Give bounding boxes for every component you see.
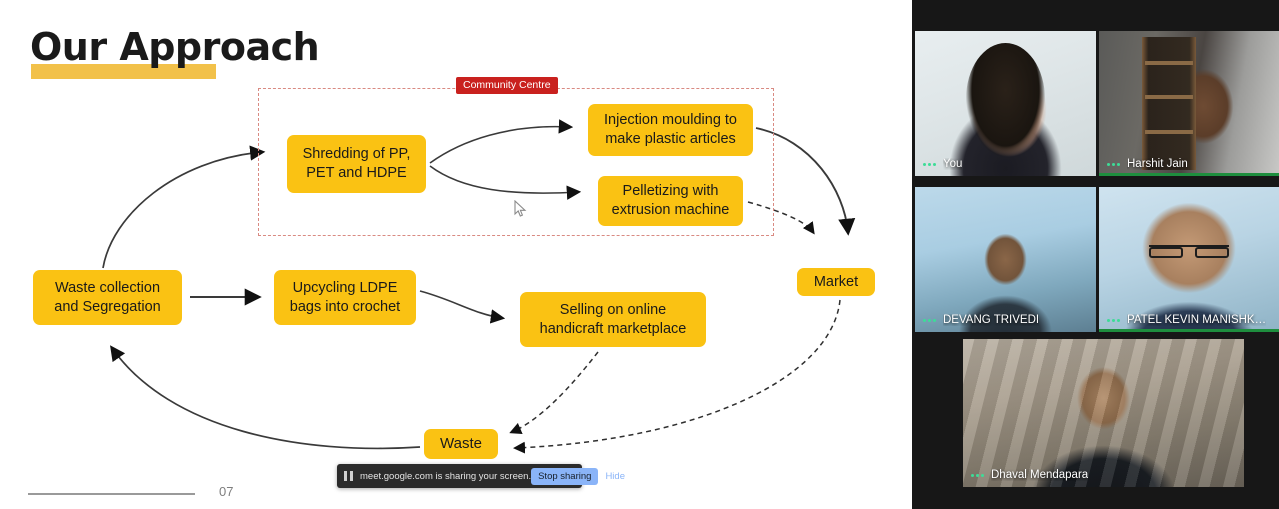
video-subject xyxy=(966,43,1046,156)
page-number: 07 xyxy=(219,484,233,499)
speaking-indicator xyxy=(1099,173,1279,176)
community-centre-label: Community Centre xyxy=(456,77,558,94)
video-background-curtain xyxy=(963,339,1244,487)
mic-activity-icon xyxy=(923,319,936,322)
presentation-slide: Our Approach Community Centre xyxy=(0,0,912,509)
video-background-shelf xyxy=(1142,37,1196,170)
mouse-cursor-icon xyxy=(514,200,527,218)
mic-activity-icon xyxy=(1107,319,1120,322)
participant-name-badge: You xyxy=(923,158,962,170)
participants-panel: You Harshit Jain DEVANG TRIVEDI xyxy=(912,0,1279,509)
node-selling-line1: Selling on online xyxy=(540,301,687,320)
node-shredding-line2: PET and HDPE xyxy=(303,164,411,183)
video-tile-harshit-jain[interactable]: Harshit Jain xyxy=(1099,31,1279,176)
node-pelletizing-line2: extrusion machine xyxy=(612,201,730,220)
node-shredding-line1: Shredding of PP, xyxy=(303,145,411,164)
video-feed xyxy=(1099,187,1279,332)
node-shredding: Shredding of PP, PET and HDPE xyxy=(287,135,426,193)
page-title: Our Approach xyxy=(30,28,319,68)
node-upcycling-line1: Upcycling LDPE xyxy=(290,279,400,298)
video-feed xyxy=(915,187,1096,332)
hide-bar-button[interactable]: Hide xyxy=(605,471,625,482)
slide-title-text: Our Approach xyxy=(30,28,319,68)
video-tile-you[interactable]: You xyxy=(915,31,1096,176)
video-tile-patel-kevin[interactable]: PATEL KEVIN MANISHK… xyxy=(1099,187,1279,332)
video-feed xyxy=(915,31,1096,176)
node-upcycling-ldpe: Upcycling LDPE bags into crochet xyxy=(274,270,416,325)
video-tile-devang-trivedi[interactable]: DEVANG TRIVEDI xyxy=(915,187,1096,332)
node-injection-moulding: Injection moulding to make plastic artic… xyxy=(588,104,753,156)
node-pelletizing: Pelletizing with extrusion machine xyxy=(598,176,743,226)
video-tile-dhaval-mendapara[interactable]: Dhaval Mendapara xyxy=(963,339,1244,487)
mic-activity-icon xyxy=(923,163,936,166)
video-subject-glasses xyxy=(1149,245,1228,258)
node-waste-collection-line2: and Segregation xyxy=(54,298,160,317)
node-injection-line1: Injection moulding to xyxy=(604,111,737,130)
speaking-indicator xyxy=(1099,329,1279,332)
video-feed xyxy=(1099,31,1279,176)
node-waste-collection: Waste collection and Segregation xyxy=(33,270,182,325)
pause-icon xyxy=(344,471,353,481)
participant-name-badge: DEVANG TRIVEDI xyxy=(923,314,1039,326)
sharing-message: meet.google.com is sharing your screen. xyxy=(360,471,531,482)
node-upcycling-line2: bags into crochet xyxy=(290,298,400,317)
node-selling-online: Selling on online handicraft marketplace xyxy=(520,292,706,347)
node-pelletizing-line1: Pelletizing with xyxy=(612,182,730,201)
mic-activity-icon xyxy=(971,474,984,477)
mic-activity-icon xyxy=(1107,163,1120,166)
participant-name-badge: Harshit Jain xyxy=(1107,158,1188,170)
node-market: Market xyxy=(797,268,875,296)
participant-name: Harshit Jain xyxy=(1127,158,1188,170)
node-waste: Waste xyxy=(424,429,498,459)
node-injection-line2: make plastic articles xyxy=(604,130,737,149)
stop-sharing-button[interactable]: Stop sharing xyxy=(531,468,598,485)
participant-name-badge: Dhaval Mendapara xyxy=(971,469,1088,481)
participant-name-badge: PATEL KEVIN MANISHK… xyxy=(1107,314,1266,326)
video-feed xyxy=(963,339,1244,487)
participant-name: PATEL KEVIN MANISHK… xyxy=(1127,314,1266,326)
participant-name: Dhaval Mendapara xyxy=(991,469,1088,481)
screen-share-view: Our Approach Community Centre xyxy=(0,0,1279,509)
footer-rule xyxy=(28,493,195,495)
participant-name: DEVANG TRIVEDI xyxy=(943,314,1039,326)
node-waste-collection-line1: Waste collection xyxy=(54,279,160,298)
participant-name: You xyxy=(943,158,962,170)
node-selling-line2: handicraft marketplace xyxy=(540,320,687,339)
screen-sharing-bar: meet.google.com is sharing your screen. … xyxy=(337,464,582,488)
